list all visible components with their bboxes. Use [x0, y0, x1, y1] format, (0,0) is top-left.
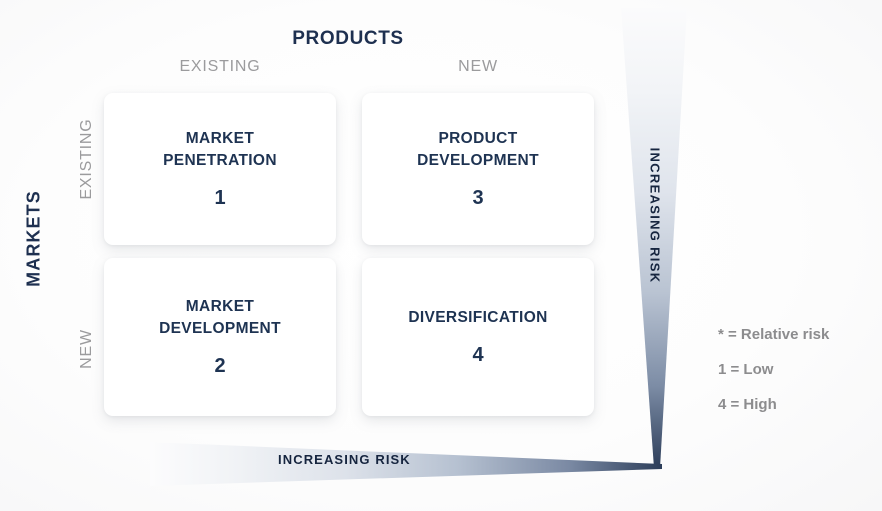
quadrant-market-penetration[interactable]: MARKET PENETRATION 1	[104, 93, 336, 245]
quadrant-risk-number: 2	[214, 355, 225, 378]
legend-item-high: 4 = High	[718, 397, 878, 412]
legend-item-relative-risk: * = Relative risk	[718, 327, 878, 342]
quadrant-product-development[interactable]: PRODUCT DEVELOPMENT 3	[362, 93, 594, 245]
products-column-label-new: NEW	[362, 58, 594, 76]
risk-legend: * = Relative risk 1 = Low 4 = High	[718, 327, 878, 412]
quadrant-title: MARKET DEVELOPMENT	[159, 296, 281, 340]
quadrant-title: MARKET PENETRATION	[163, 128, 277, 172]
markets-axis-title: MARKETS	[24, 179, 45, 299]
markets-row-label-new: NEW	[78, 279, 96, 419]
quadrant-risk-number: 3	[472, 187, 483, 210]
ansoff-matrix-diagram: PRODUCTS EXISTING NEW MARKETS EXISTING N…	[0, 0, 882, 511]
legend-item-low: 1 = Low	[718, 362, 878, 377]
quadrant-title: PRODUCT DEVELOPMENT	[417, 128, 539, 172]
horizontal-risk-label: INCREASING RISK	[278, 452, 411, 467]
quadrant-risk-number: 4	[472, 344, 483, 367]
quadrant-risk-number: 1	[214, 187, 225, 210]
horizontal-increasing-risk-arrow: INCREASING RISK	[150, 440, 662, 490]
vertical-increasing-risk-arrow: INCREASING RISK	[612, 8, 696, 468]
vertical-risk-label: INCREASING RISK	[648, 116, 663, 316]
products-column-label-existing: EXISTING	[104, 58, 336, 76]
markets-row-label-existing: EXISTING	[78, 89, 96, 229]
quadrant-market-development[interactable]: MARKET DEVELOPMENT 2	[104, 258, 336, 416]
products-axis-title: PRODUCTS	[104, 28, 592, 50]
quadrant-title: DIVERSIFICATION	[408, 307, 547, 329]
quadrant-diversification[interactable]: DIVERSIFICATION 4	[362, 258, 594, 416]
